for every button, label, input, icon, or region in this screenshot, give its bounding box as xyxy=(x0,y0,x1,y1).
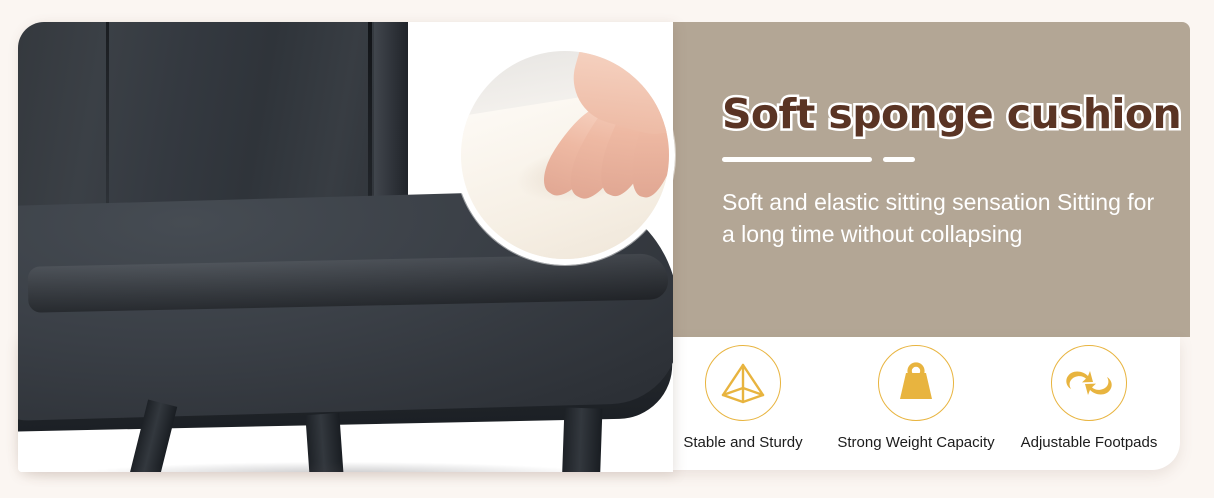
rotate-arrows-icon xyxy=(1051,345,1127,421)
divider xyxy=(722,157,1162,162)
feature-item-adjustable-footpads: Adjustable Footpads xyxy=(1006,345,1172,451)
divider-short-bar xyxy=(883,157,915,162)
foam-inset-photo xyxy=(455,45,675,265)
pyramid-icon xyxy=(705,345,781,421)
hero-text-block: Soft sponge cushion Soft and elastic sit… xyxy=(722,92,1162,250)
feature-list: Stable and Sturdy Strong Weight Capacity… xyxy=(660,345,1172,451)
product-feature-banner: Soft sponge cushion Soft and elastic sit… xyxy=(0,0,1214,498)
feature-label: Strong Weight Capacity xyxy=(837,434,994,451)
divider-long-bar xyxy=(722,157,872,162)
backrest-seam-left xyxy=(106,22,109,229)
headline: Soft sponge cushion xyxy=(722,92,1162,138)
weight-icon xyxy=(878,345,954,421)
hero-subtext: Soft and elastic sitting sensation Sitti… xyxy=(722,187,1162,250)
feature-item-stable-and-sturdy: Stable and Sturdy xyxy=(660,345,826,451)
feature-item-strong-weight-capacity: Strong Weight Capacity xyxy=(833,345,999,451)
feature-label: Adjustable Footpads xyxy=(1021,434,1158,451)
floor-shadow xyxy=(78,462,598,472)
feature-label: Stable and Sturdy xyxy=(683,434,802,451)
